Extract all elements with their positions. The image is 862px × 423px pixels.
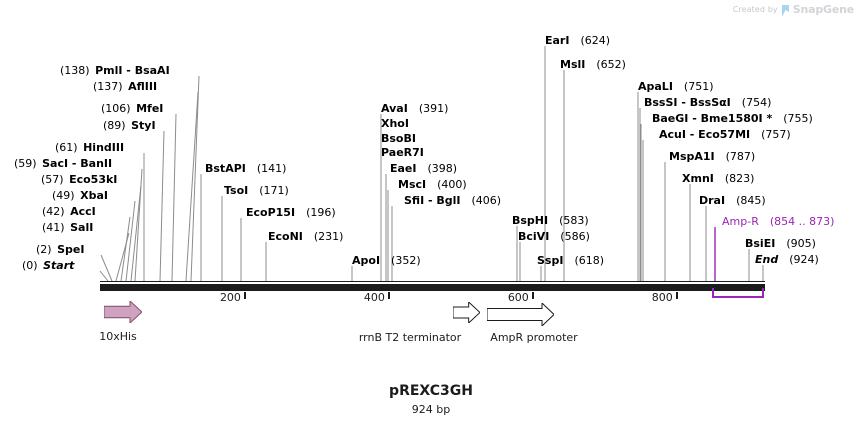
site-label-ecop15i[interactable]: EcoP15I (196) <box>246 207 336 219</box>
site-label-position: (49) <box>52 189 75 202</box>
site-label-name: EaeI <box>390 162 417 175</box>
site-label-ampr-range[interactable]: Amp-R (854 .. 873) <box>722 216 834 228</box>
feature-arrow-shape <box>104 301 142 323</box>
site-label-name: MfeI <box>136 102 163 115</box>
site-label-saci-banii[interactable]: (59) SacI - BanII <box>14 158 112 170</box>
ruler-tick-label-200: 200 <box>220 291 241 304</box>
plasmid-backbone[interactable] <box>100 284 765 291</box>
site-label-afliii[interactable]: (137) AflIII <box>93 81 157 93</box>
feature-label-his10: 10xHis <box>99 330 137 343</box>
feature-arrow-ampr-promoter[interactable] <box>487 303 554 330</box>
site-label-position: (757) <box>761 128 791 141</box>
site-label-position: (823) <box>725 172 755 185</box>
site-label-name: XbaI <box>80 189 108 202</box>
site-label-position: (583) <box>559 214 589 227</box>
site-label-position: (624) <box>580 34 610 47</box>
leader-line-afliii <box>186 92 198 281</box>
site-label-position: (391) <box>419 102 449 115</box>
feature-label-ampr-promoter: AmpR promoter <box>490 331 577 344</box>
site-label-hindiii[interactable]: (61) HindIII <box>55 142 124 154</box>
ruler-tick-600 <box>532 292 534 299</box>
site-label-name: BstAPI <box>205 162 246 175</box>
site-label-position: (618) <box>574 254 604 267</box>
site-label-position: (787) <box>726 150 756 163</box>
snapgene-credit: Created by SnapGene <box>733 3 854 16</box>
leader-line-sali <box>116 233 129 281</box>
site-label-bsphi[interactable]: BspHI (583) <box>512 215 589 227</box>
feature-label-rrnb-t2-terminator: rrnB T2 terminator <box>359 331 461 344</box>
site-label-position: (586) <box>560 230 590 243</box>
site-label-name: BciVI <box>518 230 549 243</box>
site-label-position: (845) <box>736 194 766 207</box>
site-label-name: BspHI <box>512 214 548 227</box>
site-label-xmni[interactable]: XmnI (823) <box>682 173 754 185</box>
site-label-eaei[interactable]: EaeI (398) <box>390 163 457 175</box>
site-label-position: (352) <box>391 254 421 267</box>
site-label-apoi[interactable]: ApoI (352) <box>352 255 421 267</box>
leader-line-pmli-bsaai <box>191 76 199 281</box>
site-label-name: EcoNI <box>268 230 303 243</box>
site-label-name: SfiI - BglI <box>404 194 461 207</box>
site-label-position: (41) <box>42 221 65 234</box>
site-label-position: (106) <box>101 102 131 115</box>
site-label-econi[interactable]: EcoNI (231) <box>268 231 343 243</box>
site-label-position: (59) <box>14 157 37 170</box>
site-label-position: (89) <box>103 119 126 132</box>
site-label-name: ApoI <box>352 254 380 267</box>
site-label-position: (905) <box>786 237 816 250</box>
site-label-position: (196) <box>306 206 336 219</box>
snapgene-brand-text: SnapGene <box>793 3 854 16</box>
feature-arrow-shape <box>453 302 480 323</box>
site-label-name: DraI <box>699 194 725 207</box>
site-label-mspa1i[interactable]: MspA1I (787) <box>669 151 755 163</box>
site-label-name: XhoI <box>381 117 409 130</box>
site-label-position: (171) <box>259 184 289 197</box>
site-label-position: (754) <box>742 96 772 109</box>
plasmid-map-canvas: Created by SnapGene (138) PmlI - BsaAI(1… <box>0 0 862 423</box>
site-label-drai[interactable]: DraI (845) <box>699 195 766 207</box>
site-label-name: Eco53kI <box>69 173 117 186</box>
snapgene-logo-icon <box>782 5 789 17</box>
site-label-name: BsiEI <box>745 237 775 250</box>
site-label-bstapi[interactable]: BstAPI (141) <box>205 163 286 175</box>
site-label-name: BssSI - BssSαI <box>644 96 731 109</box>
site-label-position: (57) <box>41 173 64 186</box>
site-label-position: (406) <box>472 194 502 207</box>
feature-arrow-his10[interactable] <box>104 301 142 327</box>
ruler-tick-label-400: 400 <box>364 291 385 304</box>
site-label-acci[interactable]: (42) AccI <box>42 206 96 218</box>
site-label-end[interactable]: End (924) <box>755 254 819 266</box>
leader-line-styi <box>160 131 164 281</box>
plasmid-length: 924 bp <box>0 403 862 416</box>
leader-line-acci <box>121 217 130 281</box>
site-label-name: SacI - BanII <box>42 157 112 170</box>
site-label-mslii[interactable]: MslI (652) <box>560 59 626 71</box>
site-label-acui-eco57mi[interactable]: AcuI - Eco57MI (757) <box>659 129 791 141</box>
site-label-position: (2) <box>36 243 52 256</box>
site-label-eco53ki[interactable]: (57) Eco53kI <box>41 174 117 186</box>
feature-arrow-rrnb-t2-terminator[interactable] <box>453 302 480 327</box>
site-label-name: Start <box>43 259 74 272</box>
site-label-sspi[interactable]: SspI (618) <box>537 255 604 267</box>
site-label-baegi-bme1580i[interactable]: BaeGI - Bme1580I * (755) <box>652 113 813 125</box>
site-label-bsiei[interactable]: BsiEI (905) <box>745 238 816 250</box>
site-label-name: AccI <box>70 205 96 218</box>
site-label-position: (398) <box>428 162 458 175</box>
site-label-tsoi[interactable]: TsoI (171) <box>224 185 289 197</box>
site-label-apali[interactable]: ApaLI (751) <box>638 81 714 93</box>
site-label-name: MspA1I <box>669 150 715 163</box>
site-label-name: AcuI - Eco57MI <box>659 128 750 141</box>
ruler-tick-label-800: 800 <box>652 291 673 304</box>
leader-line-start <box>100 271 108 281</box>
site-label-position: (138) <box>60 64 90 77</box>
leader-line-eco53ki <box>131 185 141 281</box>
site-label-spei[interactable]: (2) SpeI <box>36 244 84 256</box>
site-label-start[interactable]: (0) Start <box>22 260 74 272</box>
site-label-name: MscI <box>398 178 426 191</box>
leader-line-xbai <box>126 201 135 281</box>
site-label-name: AvaI <box>381 102 408 115</box>
site-label-name: End <box>755 253 778 266</box>
site-label-position: (61) <box>55 141 78 154</box>
site-label-name: AflIII <box>128 80 157 93</box>
site-label-position: (924) <box>789 253 819 266</box>
created-by-text: Created by <box>733 5 778 14</box>
site-label-name: TsoI <box>224 184 248 197</box>
site-label-name: MslI <box>560 58 585 71</box>
site-label-position: (755) <box>783 112 813 125</box>
site-label-xbai[interactable]: (49) XbaI <box>52 190 108 202</box>
ruler-tick-800 <box>676 292 678 299</box>
site-label-name: SspI <box>537 254 563 267</box>
site-label-styi[interactable]: (89) StyI <box>103 120 156 132</box>
site-label-position: (137) <box>93 80 123 93</box>
site-label-eari[interactable]: EarI (624) <box>545 35 610 47</box>
site-label-bsssi-bssgi[interactable]: BssSI - BssSαI (754) <box>644 97 771 109</box>
site-label-bsobi[interactable]: BsoBI <box>381 133 416 145</box>
site-label-position: (231) <box>314 230 344 243</box>
site-label-avai[interactable]: AvaI (391) <box>381 103 448 115</box>
site-label-position: (751) <box>684 80 714 93</box>
site-label-name: EarI <box>545 34 569 47</box>
site-label-name: PmlI - BsaAI <box>95 64 170 77</box>
site-label-name: ApaLI <box>638 80 673 93</box>
ruler-tick-200 <box>244 292 246 299</box>
site-label-position: (400) <box>437 178 467 191</box>
site-label-position: (42) <box>42 205 65 218</box>
page-title: pREXC3GH <box>0 383 862 399</box>
site-label-paer7i[interactable]: PaeR7I <box>381 147 424 159</box>
leader-line-spei <box>101 255 112 281</box>
leader-line-saci-banii <box>135 169 142 281</box>
ruler-tick-400 <box>388 292 390 299</box>
site-label-name: StyI <box>131 119 155 132</box>
site-label-msci[interactable]: MscI (400) <box>398 179 467 191</box>
site-label-position: (652) <box>596 58 626 71</box>
site-label-name: EcoP15I <box>246 206 295 219</box>
site-label-xhoi[interactable]: XhoI <box>381 118 409 130</box>
site-label-sali[interactable]: (41) SalI <box>42 222 93 234</box>
site-label-mfei[interactable]: (106) MfeI <box>101 103 163 115</box>
site-label-name: HindIII <box>83 141 124 154</box>
feature-arrow-shape <box>487 303 554 326</box>
site-label-name: Amp-R <box>722 215 759 228</box>
site-label-name: BaeGI - Bme1580I * <box>652 112 772 125</box>
site-label-name: PaeR7I <box>381 146 424 159</box>
site-label-position: (141) <box>257 162 287 175</box>
site-label-name: BsoBI <box>381 132 416 145</box>
site-label-position: (0) <box>22 259 38 272</box>
site-label-sfii-bgli[interactable]: SfiI - BglI (406) <box>404 195 501 207</box>
site-label-pmli-bsaai[interactable]: (138) PmlI - BsaAI <box>60 65 170 77</box>
site-label-name: SpeI <box>57 243 84 256</box>
site-label-position: (854 .. 873) <box>770 215 835 228</box>
site-label-bcivi[interactable]: BciVI (586) <box>518 231 590 243</box>
backbone-top-rule <box>100 281 765 282</box>
site-label-name: XmnI <box>682 172 714 185</box>
leader-line-mfei <box>172 114 176 281</box>
site-label-name: SalI <box>70 221 93 234</box>
